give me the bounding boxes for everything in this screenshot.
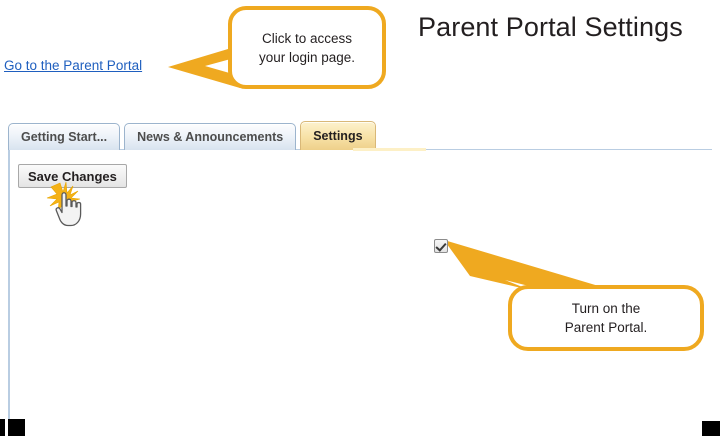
bottom-right-artifact: [702, 421, 720, 436]
active-tab-notch: [353, 148, 426, 151]
tab-getting-started[interactable]: Getting Start...: [8, 123, 120, 150]
tab-news-announcements[interactable]: News & Announcements: [124, 123, 296, 150]
tab-bar: Getting Start... News & Announcements Se…: [8, 121, 380, 150]
page-title: Parent Portal Settings: [418, 11, 683, 43]
callout-activate: Turn on the Parent Portal.: [508, 285, 704, 351]
save-changes-button[interactable]: Save Changes: [18, 164, 127, 188]
parent-portal-link[interactable]: Go to the Parent Portal: [4, 58, 142, 74]
tab-settings[interactable]: Settings: [300, 121, 375, 150]
bottom-left-artifact-2: [8, 419, 25, 436]
callout-login-text: Click to access your login page.: [259, 29, 355, 67]
callout-login: Click to access your login page.: [228, 6, 386, 89]
bottom-left-artifact: [0, 419, 5, 436]
callout-activate-text: Turn on the Parent Portal.: [565, 299, 648, 337]
activate-portal-checkbox[interactable]: [434, 239, 448, 253]
